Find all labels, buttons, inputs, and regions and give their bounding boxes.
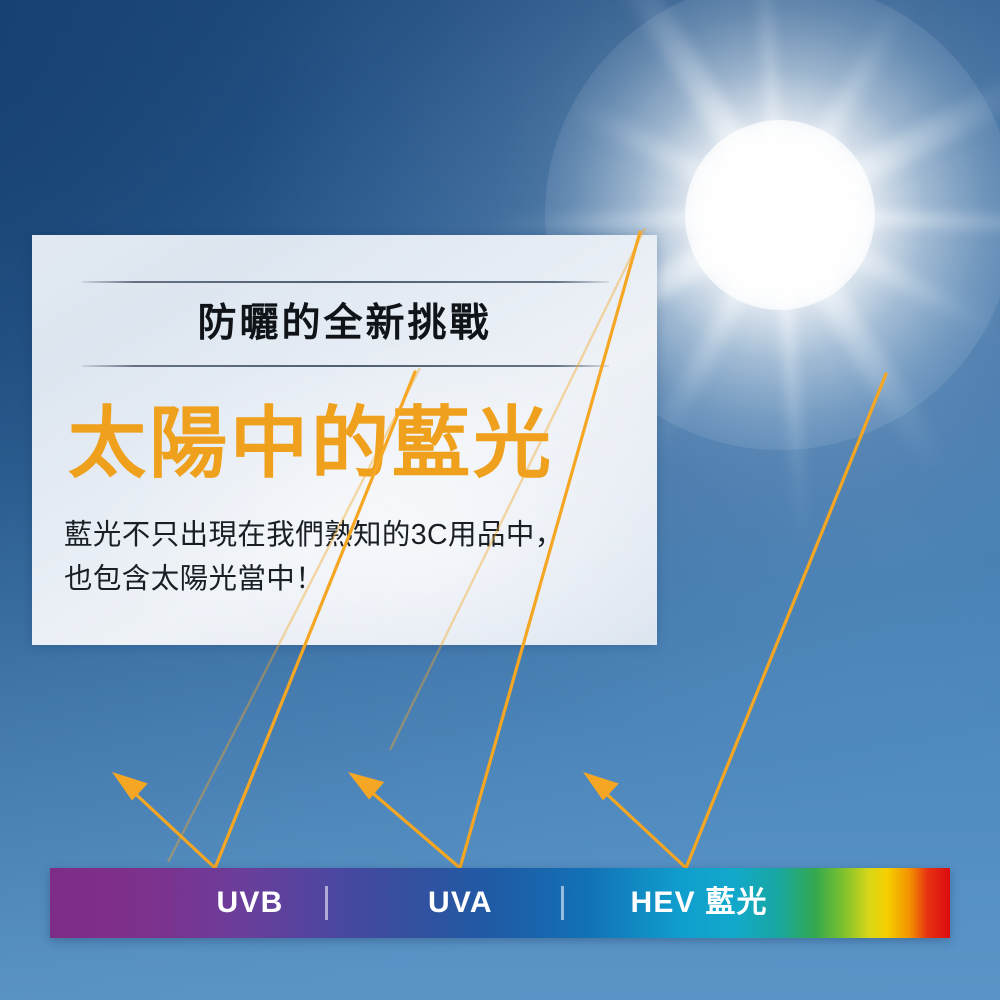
- spectrum-bar: UVBUVAHEV 藍光: [50, 868, 950, 938]
- spectrum-label-1: UVB: [217, 868, 284, 938]
- card-divider-bottom: [82, 365, 609, 367]
- info-card: 防曬的全新挑戰 太陽中的藍光 藍光不只出現在我們熟知的3C用品中， 也包含太陽光…: [32, 235, 657, 645]
- spectrum-label-3: HEV 藍光: [631, 868, 768, 938]
- spectrum-separator-1: [325, 886, 328, 920]
- card-headline: 太陽中的藍光: [68, 395, 554, 491]
- card-body-copy: 藍光不只出現在我們熟知的3C用品中， 也包含太陽光當中！: [64, 513, 634, 601]
- card-body-line-1: 藍光不只出現在我們熟知的3C用品中，: [64, 513, 634, 557]
- card-divider-top: [82, 281, 609, 283]
- spectrum-label-2: UVA: [428, 868, 493, 938]
- card-kicker: 防曬的全新挑戰: [32, 293, 657, 355]
- card-body-line-2: 也包含太陽光當中！: [64, 557, 634, 601]
- spectrum-separator-2: [561, 886, 564, 920]
- infographic-canvas: 防曬的全新挑戰 太陽中的藍光 藍光不只出現在我們熟知的3C用品中， 也包含太陽光…: [0, 0, 1000, 1000]
